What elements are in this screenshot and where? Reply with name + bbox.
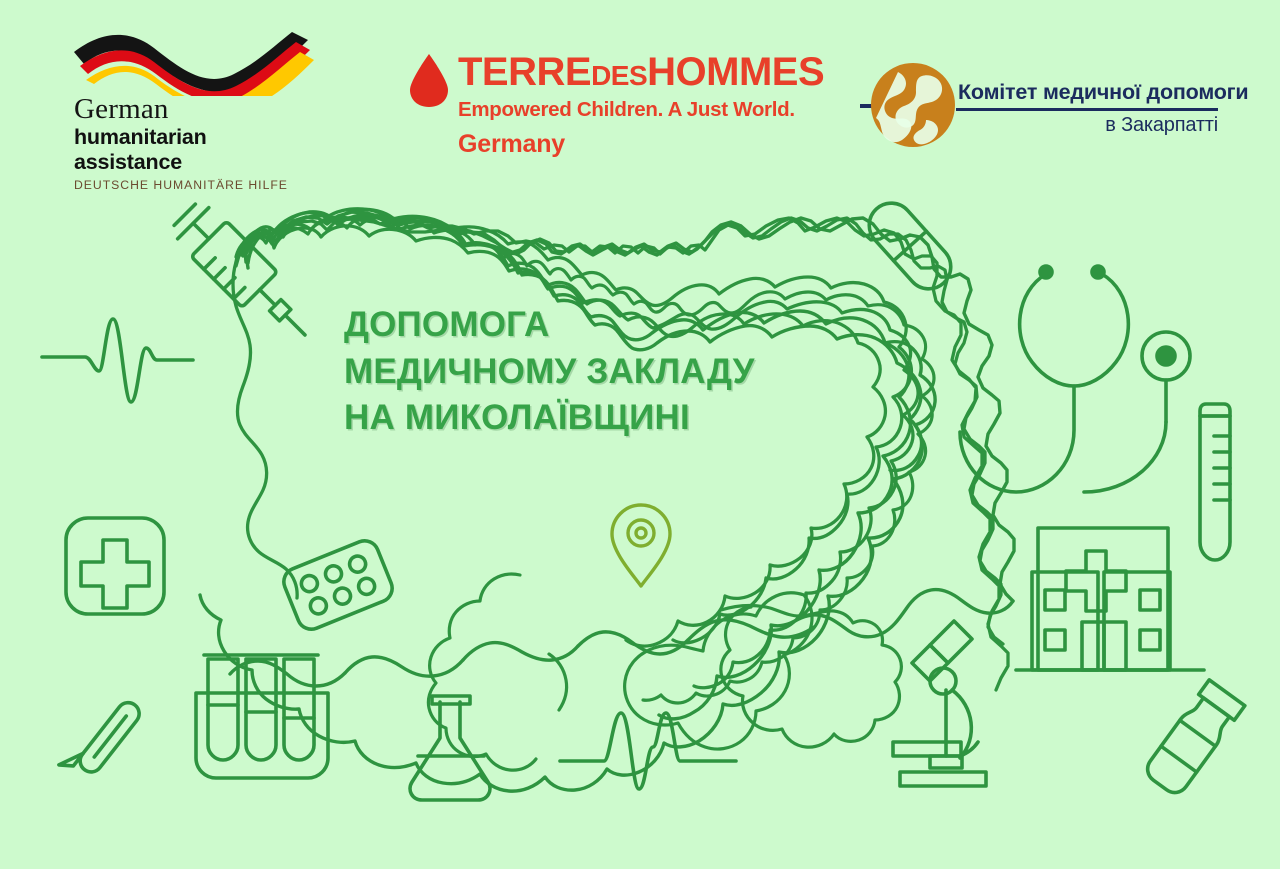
microscope-icon — [893, 621, 986, 786]
syringe-icon — [167, 197, 323, 353]
stethoscope-icon — [960, 266, 1190, 492]
poster-illustration — [0, 0, 1280, 869]
medicine-vial-icon — [1142, 680, 1245, 798]
pill-blister-pack-icon — [280, 537, 397, 634]
first-aid-cross-box-icon — [66, 518, 164, 614]
thermometer-scale-icon — [1200, 404, 1230, 560]
heartbeat-ecg-left-icon — [42, 319, 193, 402]
location-pin-marker[interactable] — [612, 505, 670, 586]
clinical-thermometer-left-icon — [59, 691, 144, 786]
poster-canvas: German humanitarian assistance DEUTSCHE … — [0, 0, 1280, 869]
crimea-peninsula — [721, 606, 902, 748]
hospital-building-icon — [1016, 528, 1204, 670]
ukraine-south-coast — [428, 574, 566, 770]
capsule-pill-icon — [860, 194, 960, 298]
heartbeat-ecg-bottom-icon — [560, 713, 736, 789]
test-tube-rack-icon — [196, 655, 328, 778]
